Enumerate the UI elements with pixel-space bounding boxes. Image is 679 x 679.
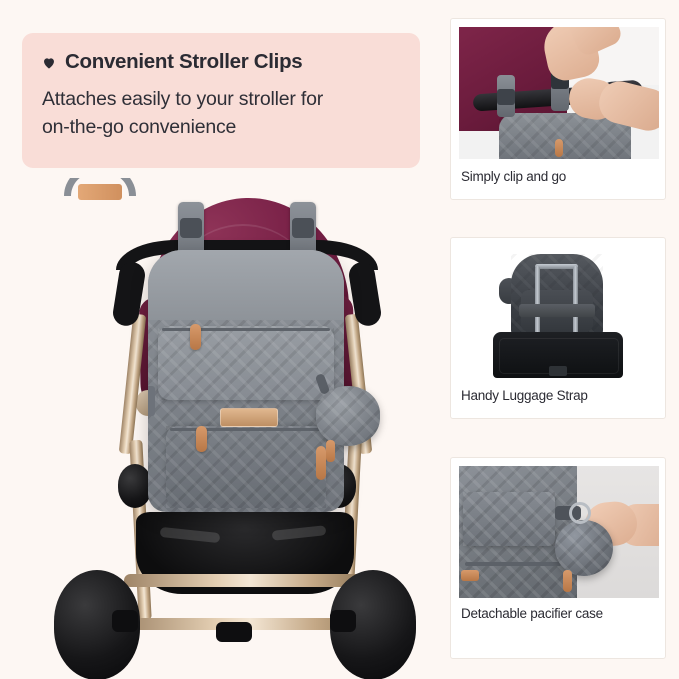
card-3-leather-tab [461, 570, 479, 581]
card-2-luggage-handle-top [535, 264, 578, 269]
backpack-side-zipper-pull [316, 446, 326, 480]
pacifier-case-zipper-pull [326, 440, 335, 462]
right-column: Simply clip and go Handy Luggage Strap [450, 0, 666, 679]
callout-body: Attaches easily to your stroller for on-… [42, 85, 400, 143]
wheel-hub-right [330, 610, 356, 632]
card-1-buckle-left [497, 89, 515, 105]
clip-buckle-left [180, 218, 202, 238]
callout-title: Convenient Stroller Clips [65, 51, 302, 74]
frame-basket-rail [124, 574, 366, 587]
zipper-lower [170, 428, 322, 431]
callout-body-line-1: Attaches easily to your stroller for [42, 85, 400, 114]
backpack-front-pocket-lower [166, 426, 326, 508]
card-3-pacifier-case [555, 520, 613, 576]
card-3-zipper [465, 562, 561, 566]
card-1-caption: Simply clip and go [461, 169, 657, 185]
pacifier-case [316, 386, 380, 446]
infographic-page: Convenient Stroller Clips Attaches easil… [0, 0, 679, 679]
left-column: Convenient Stroller Clips Attaches easil… [0, 0, 444, 679]
frame-center-bracket [216, 622, 252, 642]
diaper-backpack [148, 250, 344, 512]
zipper-pull-lower [196, 426, 207, 452]
brand-logo-plate [220, 408, 278, 427]
wheel-hub-left [112, 610, 138, 632]
card-simply-clip-and-go: Simply clip and go [450, 18, 666, 200]
card-3-pacifier-weave-texture [555, 520, 613, 576]
backpack-front-pocket-upper [158, 326, 334, 400]
wheel-small-left [118, 464, 152, 508]
card-2-photo [459, 246, 659, 378]
carry-handle-leather-tabs [78, 184, 122, 200]
card-3-photo [459, 466, 659, 598]
zipper-pull-upper [190, 324, 201, 350]
pacifier-case-weave-texture [316, 386, 380, 446]
backpack-side-clip [148, 386, 155, 416]
card-2-luggage-strap [519, 304, 595, 317]
card-3-backpack-pocket [463, 492, 555, 546]
backpack-top-panel [148, 250, 344, 320]
card-1-zipper-pull [555, 139, 563, 157]
hero-stage [0, 178, 444, 679]
card-handy-luggage-strap: Handy Luggage Strap [450, 237, 666, 419]
card-3-pocket-weave-texture [463, 492, 555, 546]
zipper-upper [162, 328, 330, 331]
heart-icon [42, 56, 56, 70]
stroller-with-diaper-backpack-photo [0, 178, 444, 679]
card-2-suitcase-lock [549, 366, 567, 376]
callout-heading-row: Convenient Stroller Clips [42, 51, 400, 74]
card-3-pacifier-zipper-pull [563, 570, 572, 592]
card-1-photo [459, 27, 659, 159]
pocket-weave-texture-upper [158, 326, 334, 400]
pocket-weave-texture-lower [166, 426, 326, 508]
card-3-caption: Detachable pacifier case [461, 606, 657, 622]
card-detachable-pacifier-case: Detachable pacifier case [450, 457, 666, 659]
card-2-caption: Handy Luggage Strap [461, 388, 657, 404]
feature-callout: Convenient Stroller Clips Attaches easil… [22, 33, 420, 168]
card-3-clip-ring [569, 502, 591, 524]
callout-body-line-2: on-the-go convenience [42, 113, 400, 142]
clip-buckle-right [292, 218, 314, 238]
